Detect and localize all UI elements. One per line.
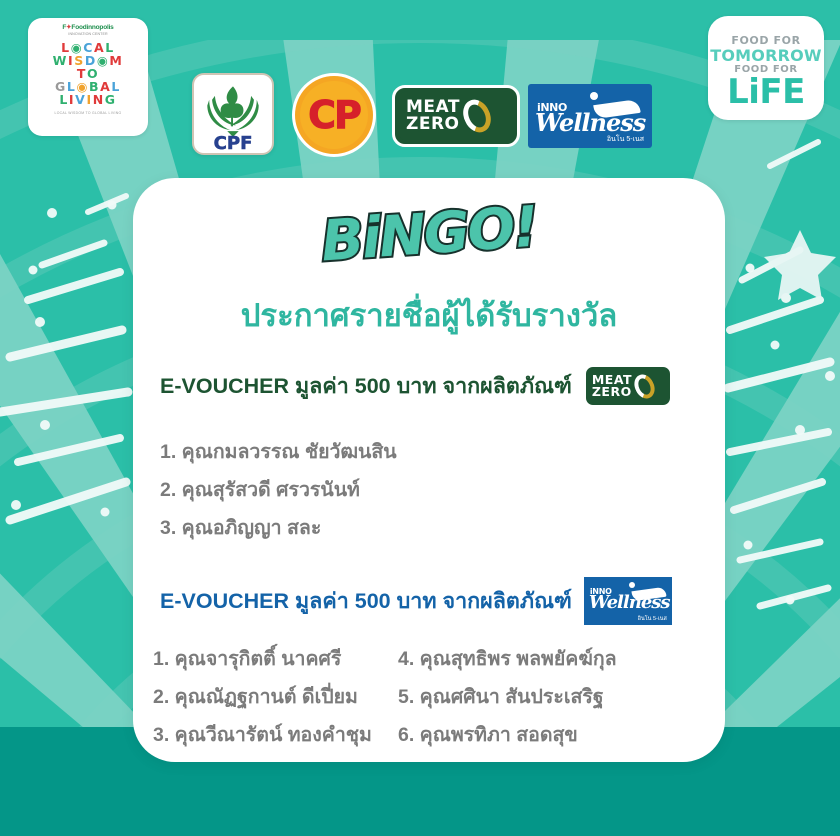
logo-cpf: CPF <box>192 73 274 155</box>
winner-row: 2. คุณสุรัสวดี ศรวรนันท์ <box>160 471 397 509</box>
winner-row: 2. คุณณัฏฐกานต์ ดีเปี่ยม <box>153 678 372 716</box>
cp-wordmark: CP <box>308 93 360 137</box>
foodinnopolis-subtitle: INNOVATION CENTER <box>32 32 144 36</box>
inline-logo-meat-zero: MEAT ZERO <box>584 365 672 407</box>
bingo-logo: BiNGO! <box>133 192 725 278</box>
meat-zero-wordmark: MEAT ZERO <box>406 99 460 133</box>
logo-food-for-life: FOOD FOR TOMORROW FOOD FOR LiFE <box>708 16 824 120</box>
meat-zero-wordmark: MEAT ZERO <box>592 374 632 398</box>
voucher-heading-text: E-VOUCHER มูลค่า 500 บาท จากผลิตภัณฑ์ <box>160 369 572 403</box>
winner-row: 1. คุณกมลวรรณ ชัยวัฒนสิน <box>160 433 397 471</box>
meat-zero-line2: ZERO <box>592 386 632 398</box>
winner-row: 4. คุณสุทธิพร พลพยัคฆ์กุล <box>398 640 617 678</box>
bingo-wordmark: BiNGO! <box>131 171 728 298</box>
wellness-figure-icon <box>629 582 635 588</box>
winner-row: 3. คุณอภิญญา สละ <box>160 509 397 547</box>
meat-zero-ring-icon <box>631 371 659 402</box>
fflife-line4: LiFE <box>708 75 824 109</box>
cp-oval: CP <box>300 81 368 149</box>
logo-cp: CP <box>292 73 376 157</box>
voucher-heading-text: E-VOUCHER มูลค่า 500 บาท จากผลิตภัณฑ์ <box>160 584 572 618</box>
wellness-wordmark: Wellness <box>535 108 645 137</box>
foodinnopolis-wordmark: F✦Foodinnopolis <box>32 24 144 31</box>
winners-card: BiNGO! ประกาศรายชื่อผู้ได้รับรางวัล E-VO… <box>133 178 725 762</box>
meat-zero-ring-icon <box>458 95 496 137</box>
winner-list-inno-wellness-col2: 4. คุณสุทธิพร พลพยัคฆ์กุล 5. คุณศศินา สั… <box>398 640 617 754</box>
poster-canvas: F✦Foodinnopolis INNOVATION CENTER L◉CAL … <box>0 0 840 836</box>
wellness-thai-text: อินโน 5-เนส <box>607 134 644 145</box>
cpf-emblem: CPF <box>194 75 272 153</box>
brand-logo-strip: F✦Foodinnopolis INNOVATION CENTER L◉CAL … <box>0 0 840 160</box>
winner-row: 3. คุณวีณารัตน์ ทองคำชุม <box>153 716 372 754</box>
wellness-figure-icon <box>590 92 598 100</box>
star-icon <box>764 230 836 300</box>
wellness-wordmark: Wellness <box>589 592 670 613</box>
winner-row: 5. คุณศศินา สันประเสริฐ <box>398 678 617 716</box>
logo-meat-zero: MEAT ZERO <box>392 85 520 147</box>
winner-row: 6. คุณพรทิภา สอดสุข <box>398 716 617 754</box>
meat-zero-line2: ZERO <box>406 116 460 133</box>
wellness-thai-text: อินโน 5-เนส <box>638 615 667 623</box>
fflife-line2: TOMORROW <box>708 47 824 64</box>
foodinnopolis-slogan: L◉CAL WISD◉M TO GL◉BAL LIVING <box>32 41 144 106</box>
logo-foodinnopolis: F✦Foodinnopolis INNOVATION CENTER L◉CAL … <box>28 18 148 136</box>
winner-row: 1. คุณจารุกิตติ์ นาคศรี <box>153 640 372 678</box>
winner-list-meat-zero: 1. คุณกมลวรรณ ชัยวัฒนสิน 2. คุณสุรัสวดี … <box>160 433 397 547</box>
meat-zero-inner: MEAT ZERO <box>398 91 514 141</box>
slogan-line-5: LIVING <box>32 93 144 106</box>
logo-inno-wellness: iNNO Wellness อินโน 5-เนส <box>528 84 652 148</box>
page-title: ประกาศรายชื่อผู้ได้รับรางวัล <box>133 290 725 340</box>
svg-text:CPF: CPF <box>214 133 253 153</box>
inline-logo-inno-wellness: iNNO Wellness อินโน 5-เนส <box>584 577 672 625</box>
voucher-heading-meat-zero: E-VOUCHER มูลค่า 500 บาท จากผลิตภัณฑ์ ME… <box>160 365 672 407</box>
foodinnopolis-footer: LOCAL WISDOM TO GLOBAL LIVING <box>32 111 144 115</box>
voucher-heading-inno-wellness: E-VOUCHER มูลค่า 500 บาท จากผลิตภัณฑ์ iN… <box>160 577 672 625</box>
winner-list-inno-wellness-col1: 1. คุณจารุกิตติ์ นาคศรี 2. คุณณัฏฐกานต์ … <box>153 640 372 754</box>
